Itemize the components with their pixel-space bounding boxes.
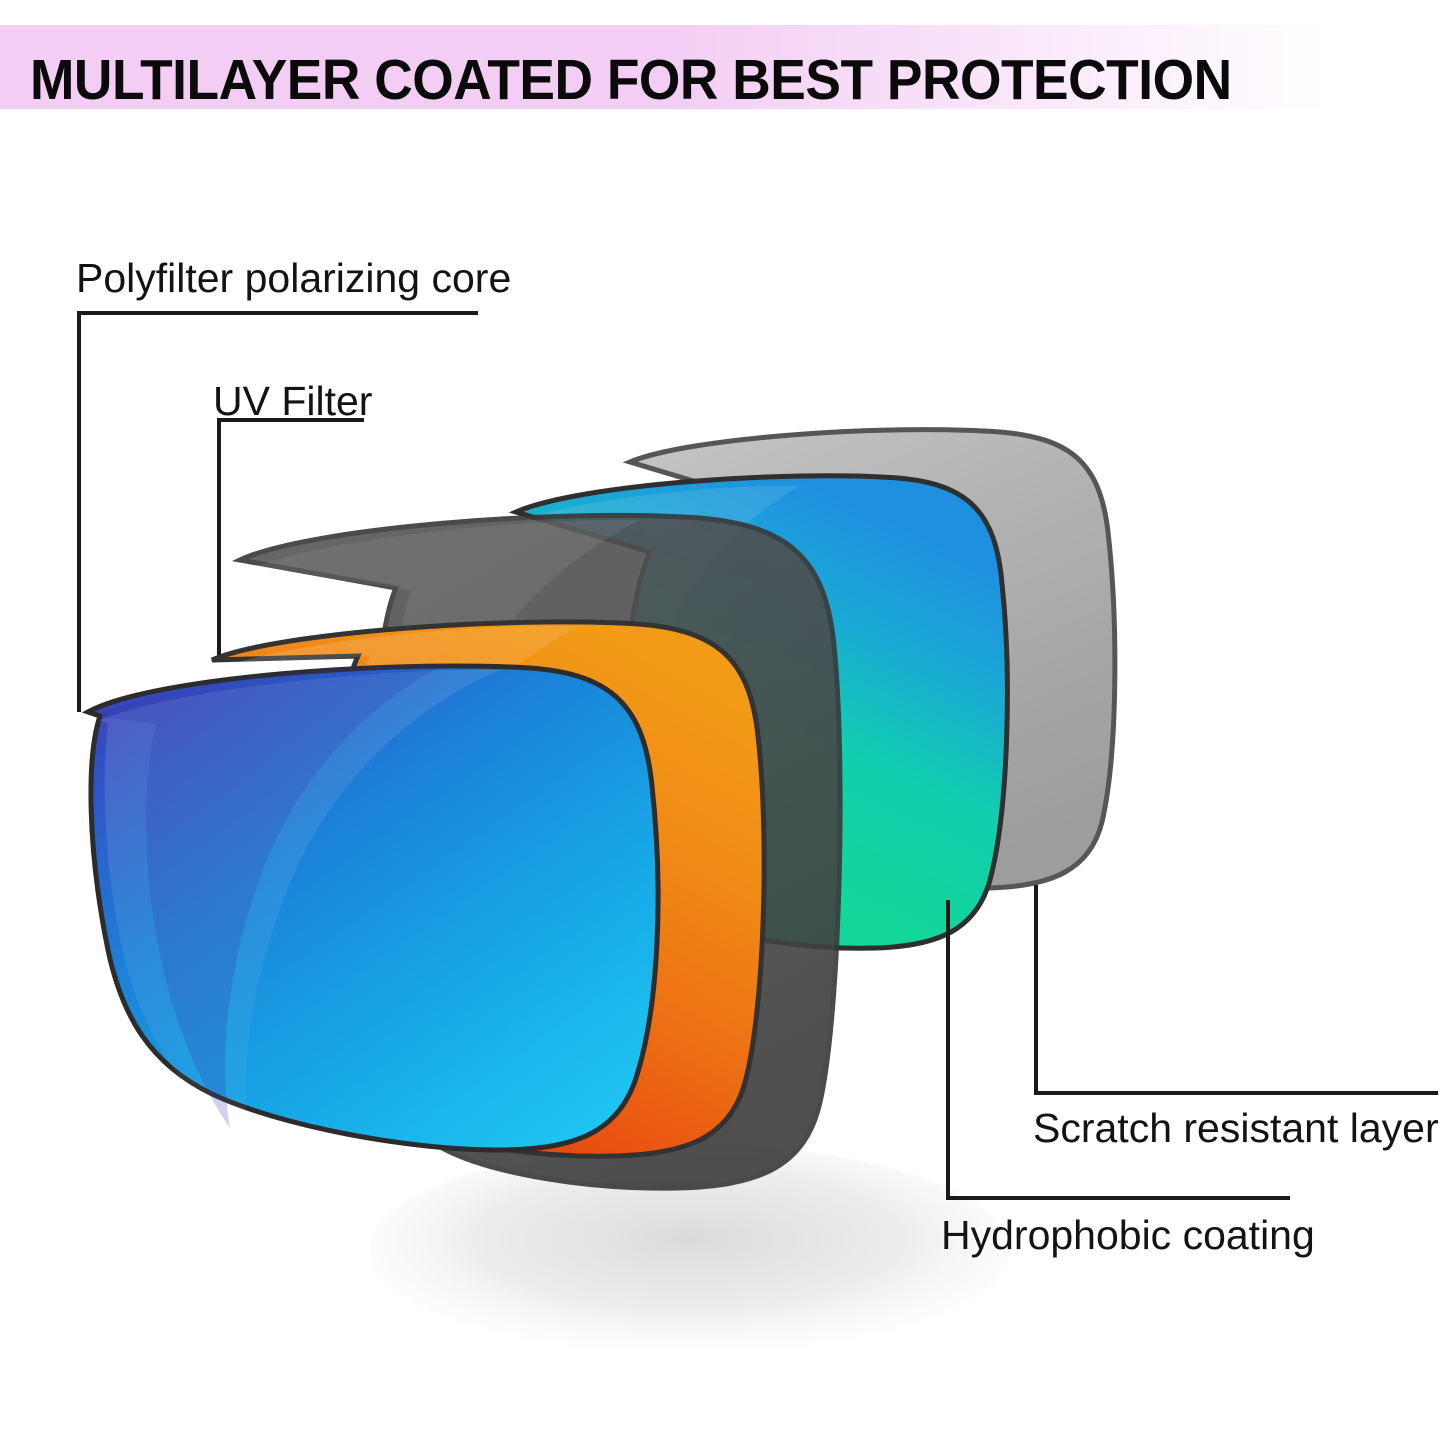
callout-label-scratch-resistant: Scratch resistant layer — [1033, 1105, 1439, 1152]
diagram-canvas: MULTILAYER COATED FOR BEST PROTECTION — [0, 0, 1445, 1445]
callout-label-hydrophobic: Hydrophobic coating — [941, 1212, 1315, 1259]
callout-label-uv-filter: UV Filter — [213, 378, 372, 425]
callout-label-polyfilter: Polyfilter polarizing core — [76, 255, 511, 302]
lens-blue-mirror — [88, 664, 658, 1150]
